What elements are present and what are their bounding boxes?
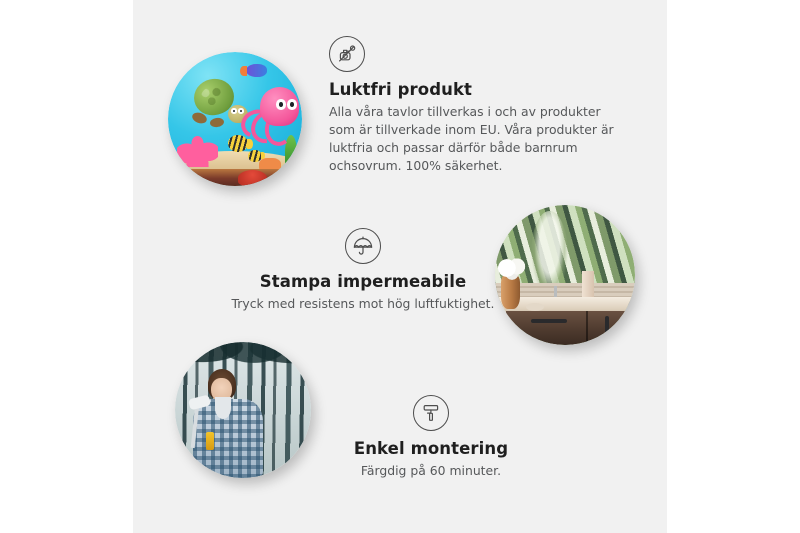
no-fragrance-icon <box>329 36 365 72</box>
wooden-vanity <box>506 311 635 345</box>
paint-roller-icon <box>413 395 449 431</box>
paint-tool <box>206 432 214 449</box>
feature-odourless-body: Alla våra tavlor tillverkas i och av pro… <box>329 103 625 175</box>
product-image-bathroom <box>495 205 635 345</box>
woman-painter <box>189 369 268 478</box>
pink-coral <box>177 127 217 167</box>
blue-fish <box>246 64 267 77</box>
feature-odourless-title: Luktfri produkt <box>329 80 625 99</box>
content-panel: Luktfri produkt Alla våra tavlor tillver… <box>133 0 667 533</box>
umbrella-glyph <box>351 234 375 258</box>
feature-waterproof: Stampa impermeabile Tryck med resistens … <box>193 228 533 313</box>
turtle-eye-right <box>238 108 244 113</box>
page-root: Luktfri produkt Alla våra tavlor tillver… <box>0 0 800 533</box>
feature-odourless: Luktfri produkt Alla våra tavlor tillver… <box>329 36 625 175</box>
octopus-eye-left <box>276 99 285 109</box>
white-flowers <box>495 255 529 280</box>
drawer-handle <box>531 319 567 323</box>
feature-waterproof-title: Stampa impermeabile <box>193 272 533 291</box>
product-image-forest-inner <box>175 342 311 478</box>
feature-waterproof-body: Tryck med resistens mot hög luftfuktighe… <box>193 295 533 313</box>
yellow-fish-small <box>248 150 261 162</box>
product-image-bathroom-inner <box>495 205 635 345</box>
sea-turtle <box>191 79 245 125</box>
product-image-forest <box>175 342 311 478</box>
umbrella-icon <box>345 228 381 264</box>
feature-assembly-title: Enkel montering <box>311 439 551 458</box>
cabinet-handle <box>605 316 609 335</box>
product-image-sea-inner <box>168 52 302 186</box>
turtle-eye-left <box>231 108 237 113</box>
no-fragrance-glyph <box>335 42 359 66</box>
octopus-eye-right <box>287 99 296 109</box>
octopus <box>251 87 299 143</box>
vanity-seam <box>586 311 588 345</box>
feature-assembly: Enkel montering Färgdig på 60 minuter. <box>311 395 551 480</box>
product-image-sea <box>168 52 302 186</box>
feature-assembly-body: Färgdig på 60 minuter. <box>311 462 551 480</box>
sea-foreground-band <box>168 169 302 186</box>
octopus-head <box>260 87 300 126</box>
paint-roller-glyph <box>419 401 443 425</box>
crab <box>238 170 267 186</box>
